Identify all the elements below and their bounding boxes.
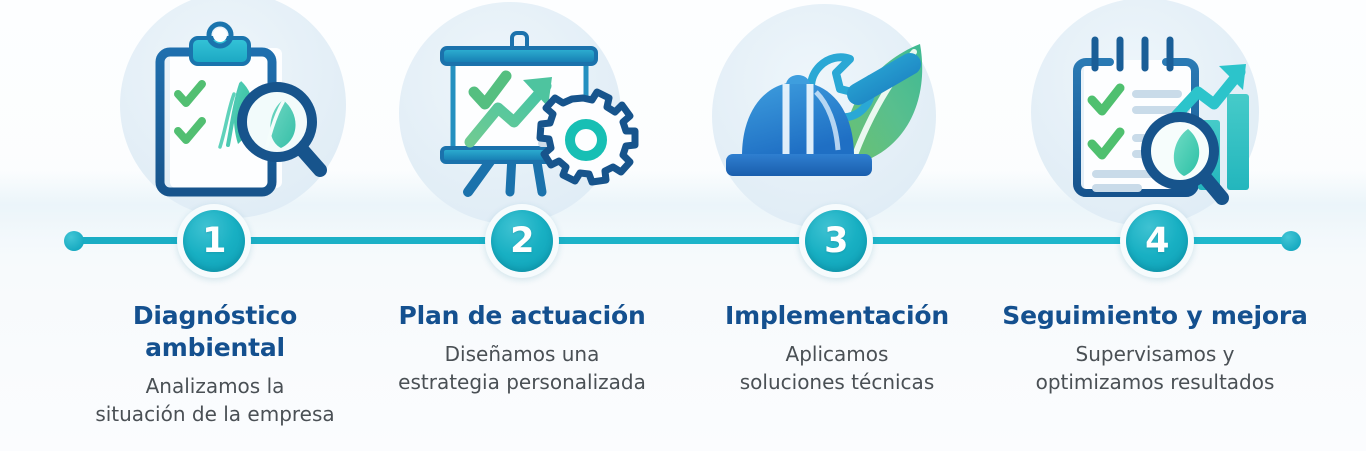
step-desc-2: Diseñamos una estrategia personalizada [386,340,658,397]
step-badge-3[interactable]: 3 [799,204,873,278]
step-desc-3-line1: Aplicamos [706,340,968,368]
step-desc-3: Aplicamos soluciones técnicas [706,340,968,397]
step-badge-4[interactable]: 4 [1120,204,1194,278]
step-title-4-line1: Seguimiento y mejora [1000,300,1310,332]
step-desc-1-line2: situación de la empresa [84,400,346,428]
step-badge-1[interactable]: 1 [177,204,251,278]
step-title-3-line1: Implementación [706,300,968,332]
step-caption-3: Implementación Aplicamos soluciones técn… [706,300,968,397]
step-desc-4-line2: optimizamos resultados [1000,368,1310,396]
helmet-top-notch [786,75,810,84]
notepad-checklist-bar-chart-magnifier-icon [1062,24,1262,206]
step-desc-1: Analizamos la situación de la empresa [84,372,346,429]
step-title-2: Plan de actuación [386,300,658,332]
step-title-4: Seguimiento y mejora [1000,300,1310,332]
step-title-2-line1: Plan de actuación [386,300,658,332]
gear-icon [540,92,635,182]
step-badge-disc-1: 1 [183,210,245,272]
infographic-canvas: 1 2 3 4 Diagnóstico ambiental Analizamos… [0,0,1366,451]
step-title-1-line1: Diagnóstico [84,300,346,332]
step-caption-1: Diagnóstico ambiental Analizamos la situ… [84,300,346,429]
step-badge-2[interactable]: 2 [485,204,559,278]
step-title-1: Diagnóstico ambiental [84,300,346,364]
timeline-track [74,237,1290,244]
step-desc-4-line1: Supervisamos y [1000,340,1310,368]
timeline-end-dot [1281,231,1301,251]
clip-hole [213,28,227,42]
step-desc-4: Supervisamos y optimizamos resultados [1000,340,1310,397]
safety-helmet-brim [726,154,872,176]
clipboard-checklist-leaf-magnifier-icon [140,18,335,208]
step-title-1-line2: ambiental [84,332,346,364]
step-desc-2-line1: Diseñamos una [386,340,658,368]
step-badge-disc-3: 3 [805,210,867,272]
hard-hat-wrench-leaf-icon [724,32,939,202]
presentation-board-growth-arrow-gear-icon [428,30,628,202]
step-badge-disc-2: 2 [491,210,553,272]
step-caption-2: Plan de actuación Diseñamos una estrateg… [386,300,658,397]
step-badge-disc-4: 4 [1126,210,1188,272]
step-desc-1-line1: Analizamos la [84,372,346,400]
step-icon-3 [724,32,939,202]
step-icon-4 [1062,24,1262,206]
step-title-3: Implementación [706,300,968,332]
step-number-4: 4 [1145,224,1169,259]
step-caption-4: Seguimiento y mejora Supervisamos y opti… [1000,300,1310,397]
step-desc-3-line2: soluciones técnicas [706,368,968,396]
timeline-start-dot [64,231,84,251]
board-hanger [512,33,527,48]
step-icon-1 [140,18,335,208]
step-icon-2 [428,30,628,202]
step-number-3: 3 [824,224,848,259]
step-number-2: 2 [510,224,534,259]
step-desc-2-line2: estrategia personalizada [386,368,658,396]
board-top-bar [442,48,596,64]
step-number-1: 1 [202,224,226,259]
